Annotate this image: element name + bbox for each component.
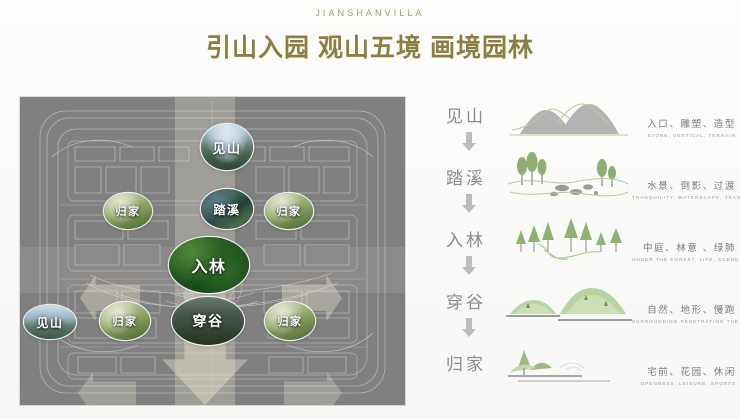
flow-stage-illustration-forest [504, 214, 632, 270]
plan-marker-label: 见山 [36, 314, 63, 331]
plan-marker-入林[interactable]: 入林 [169, 237, 249, 293]
site-plan-panel: 见山踏溪归家归家入林见山归家穿谷归家 [20, 97, 405, 405]
flow-arrow-down-icon [462, 132, 476, 152]
flow-arrow-down-icon [462, 194, 476, 214]
flow-stage-keywords-cn: 宅前、花园、休闲 [632, 364, 736, 378]
flow-stage-keywords-cn: 入口、雕塑、造型 [632, 116, 736, 130]
flow-stage-keywords-en: UNDER THE FOREST, LIFE, SCENE [632, 257, 736, 262]
flow-stage-description: 宅前、花园、休闲 OPENNESS, LEISURE, SPORTS [632, 364, 736, 386]
flow-stage-illustration-mountains [504, 90, 632, 146]
flow-stage-keywords-cn: 水景、倒影、过渡 [632, 178, 736, 192]
flow-stage-入林: 入林 中庭、林意 、绿肺 UNDER THE FOREST, LIFE, SCE… [432, 224, 732, 276]
plan-marker-label: 归家 [113, 313, 138, 329]
plan-marker-见山[interactable]: 见山 [201, 124, 253, 170]
flow-stage-归家: 归家 宅前、花园、休闲 OPENNESS, LEISURE, SPORTS [432, 348, 732, 400]
plan-marker-归家[interactable]: 归家 [265, 193, 313, 229]
flow-stage-description: 水景、倒影、过渡 TRANQUILITY, WATERSCAPE, TRANSI… [632, 178, 736, 200]
flow-stage-illustration-stream [504, 152, 632, 208]
flow-stage-illustration-valley [504, 276, 632, 332]
plan-marker-label: 归家 [278, 313, 303, 329]
flow-stage-illustration-home [504, 338, 632, 394]
plan-marker-label: 归家 [116, 203, 141, 219]
flow-stage-穿谷: 穿谷 自然、地形、慢跑 SURROUNDING PENETRATING THE … [432, 286, 732, 338]
flow-stage-label: 归家 [446, 350, 508, 375]
plan-marker-label: 见山 [212, 138, 241, 157]
plan-marker-归家[interactable]: 归家 [100, 302, 150, 340]
flow-stage-label: 踏溪 [446, 164, 508, 189]
brand-subtitle: JIANSHANVILLA [0, 8, 740, 18]
flow-stage-description: 自然、地形、慢跑 SURROUNDING PENETRATING THE SCE… [632, 302, 736, 324]
plan-marker-踏溪[interactable]: 踏溪 [201, 189, 253, 229]
flow-stage-description: 中庭、林意 、绿肺 UNDER THE FOREST, LIFE, SCENE [632, 240, 736, 262]
flow-stage-label: 穿谷 [446, 288, 508, 313]
flow-stage-keywords-en: OPENNESS, LEISURE, SPORTS [632, 381, 736, 386]
plan-marker-归家[interactable]: 归家 [265, 302, 315, 340]
flow-stage-keywords-cn: 中庭、林意 、绿肺 [632, 240, 736, 254]
plan-marker-label: 踏溪 [213, 201, 240, 218]
flow-arrow-down-icon [462, 318, 476, 338]
flow-stage-keywords-cn: 自然、地形、慢跑 [632, 302, 736, 316]
plan-marker-label: 入林 [191, 253, 226, 277]
plan-marker-label: 归家 [277, 203, 302, 219]
plan-marker-见山[interactable]: 见山 [24, 305, 76, 339]
journey-flow-diagram: 见山 入口、雕塑、造型 STONE, VERTICAL, TERRAIN 踏溪 … [432, 100, 732, 405]
plan-marker-归家[interactable]: 归家 [104, 193, 152, 229]
flow-stage-keywords-en: SURROUNDING PENETRATING THE SCENE [632, 319, 736, 324]
plan-marker-label: 穿谷 [193, 311, 224, 331]
flow-stage-踏溪: 踏溪 水景、倒影、过渡 TRANQUILITY, WATERSCAPE, TRA… [432, 162, 732, 214]
slide-root: JIANSHANVILLA 引山入园 观山五境 画境园林 [0, 0, 740, 419]
page-title: 引山入园 观山五境 画境园林 [0, 28, 740, 64]
site-plan-drawing: 见山踏溪归家归家入林见山归家穿谷归家 [20, 97, 405, 405]
flow-arrow-down-icon [462, 256, 476, 276]
flow-stage-description: 入口、雕塑、造型 STONE, VERTICAL, TERRAIN [632, 116, 736, 138]
flow-stage-见山: 见山 入口、雕塑、造型 STONE, VERTICAL, TERRAIN [432, 100, 732, 152]
flow-stage-label: 见山 [446, 102, 508, 127]
plan-marker-穿谷[interactable]: 穿谷 [172, 297, 244, 345]
flow-stage-keywords-en: TRANQUILITY, WATERSCAPE, TRANSITION [632, 195, 736, 200]
flow-stage-keywords-en: STONE, VERTICAL, TERRAIN [632, 133, 736, 138]
flow-stage-label: 入林 [446, 226, 508, 251]
